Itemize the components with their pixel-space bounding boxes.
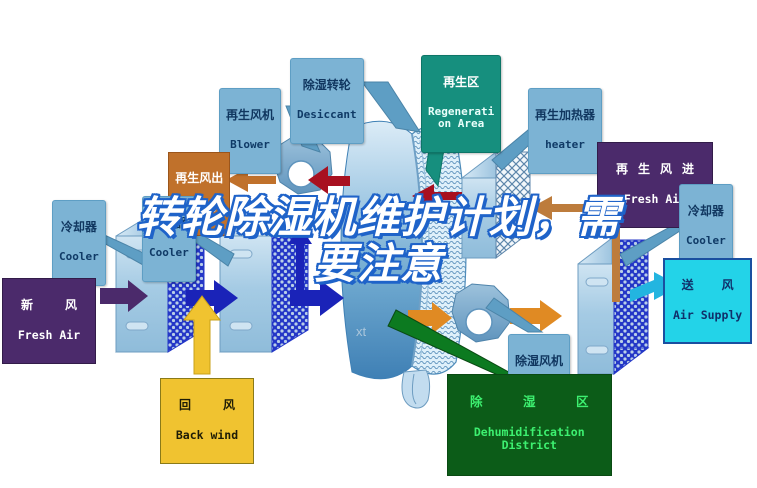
label-dehumidification-district: 除 湿 区 Dehumidification District [447, 374, 612, 476]
label-cooler-right-en: Cooler [686, 235, 726, 247]
label-regen-heater: 再生加热器 heater [528, 88, 602, 174]
label-air-supply-en: Air Supply [673, 309, 742, 321]
label-back-wind-cn: 回 风 [169, 399, 245, 412]
diagram-canvas: xt 除湿转轮 Desiccant 再生风机 Blower 再生区 Regene… [0, 0, 757, 488]
label-exhaust-cn: 再生风出 [175, 172, 223, 185]
label-cooler-left: 冷却器 Cooler [52, 200, 106, 286]
label-regen-heater-cn: 再生加热器 [535, 109, 595, 122]
label-cooler-left-cn: 冷却器 [59, 221, 99, 234]
label-desiccant-rotor-cn: 除湿转轮 [297, 79, 357, 92]
label-regen-heater-en: heater [535, 139, 595, 151]
label-dehumidification-district-en: Dehumidification District [456, 426, 603, 452]
label-back-wind: 回 风 Back wind [160, 378, 254, 464]
label-cooler-left-en: Cooler [59, 251, 99, 263]
label-cooler-mid-en: Cooler [149, 247, 189, 259]
label-dehumidification-district-cn: 除 湿 区 [456, 395, 603, 409]
label-regen-blower-en: Blower [226, 139, 274, 151]
label-regen-blower-cn: 再生风机 [226, 109, 274, 122]
dehumidifier-schematic: xt [0, 0, 757, 488]
label-regen-fresh-air-cn: 再生风进 [606, 163, 704, 176]
label-cooler-right: 冷却器 Cooler [679, 184, 733, 270]
label-regeneration-area-en: Regenerati on Area [428, 106, 494, 130]
label-cooler-right-cn: 冷却器 [686, 205, 726, 218]
label-fresh-air-cn: 新 风 [11, 299, 87, 312]
label-air-supply: 送 风 Air Supply [663, 258, 752, 344]
label-cooler-mid: 冷却器 Cooler [142, 196, 196, 282]
label-fresh-air-en: Fresh Air [11, 329, 87, 341]
label-regeneration-area: 再生区 Regenerati on Area [421, 55, 501, 153]
desiccant-wheel [341, 121, 466, 408]
label-dehumid-blower-cn: 除湿风机 [515, 355, 563, 368]
watermark-text: xt [356, 324, 367, 339]
label-cooler-mid-cn: 冷却器 [149, 217, 189, 230]
label-desiccant-rotor-en: Desiccant [297, 109, 357, 121]
regen-heater-unit [462, 152, 530, 258]
label-air-supply-cn: 送 风 [673, 279, 742, 292]
label-desiccant-rotor: 除湿转轮 Desiccant [290, 58, 364, 144]
label-back-wind-en: Back wind [169, 429, 245, 441]
label-fresh-air: 新 风 Fresh Air [2, 278, 96, 364]
label-regeneration-area-cn: 再生区 [428, 76, 494, 89]
